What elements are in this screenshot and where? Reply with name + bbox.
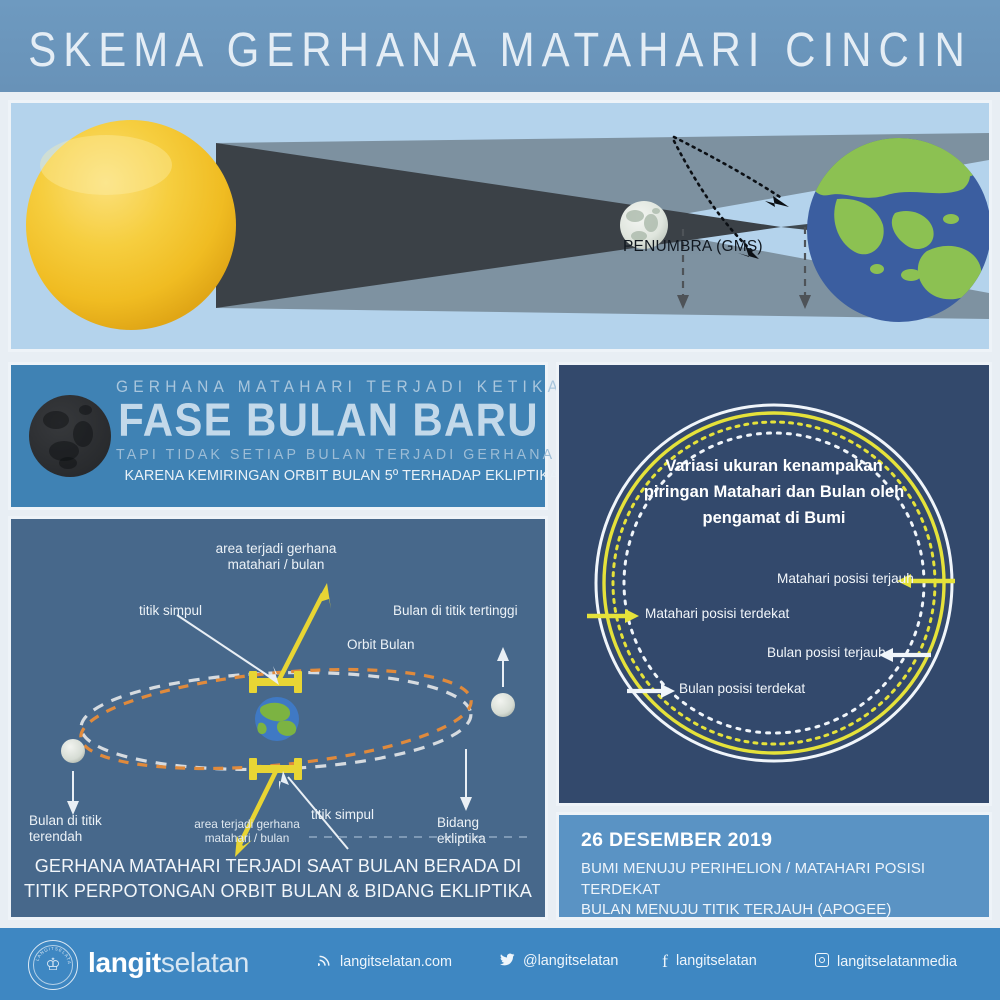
- infographic-poster: SKEMA GERHANA MATAHARI CINCIN: [0, 0, 1000, 1000]
- eclipse-geometry-svg: [11, 103, 989, 349]
- new-moon-phase-panel: GERHANA MATAHARI TERJADI KETIKA FASE BUL…: [8, 362, 548, 510]
- instagram-icon: [815, 953, 829, 970]
- social-instagram-label: langitselatanmedia: [837, 954, 957, 970]
- fase-line-3: TAPI TIDAK SETIAP BULAN TERJADI GERHANA: [116, 447, 541, 464]
- footer-bar: LANGITSELATAN ♔ langitselatan langitsela…: [0, 928, 1000, 1000]
- emblem-figure-icon: ♔: [42, 954, 64, 976]
- social-twitter[interactable]: @langitselatan: [500, 953, 618, 969]
- fase-line-2: FASE BULAN BARU: [116, 396, 541, 444]
- arrow-moon-nearest: [627, 684, 675, 698]
- apparent-size-svg: [559, 365, 989, 803]
- social-instagram[interactable]: langitselatanmedia: [815, 953, 957, 970]
- event-date-panel: 26 DESEMBER 2019 BUMI MENUJU PERIHELION …: [556, 812, 992, 920]
- rss-icon: [318, 953, 332, 970]
- brand-wordmark: langitselatan: [88, 948, 249, 978]
- event-date: 26 DESEMBER 2019: [581, 829, 989, 852]
- moon-lowest-icon: [61, 739, 85, 763]
- label-bulan-tertinggi: Bulan di titik tertinggi: [393, 603, 518, 619]
- arrow-moon-farthest: [879, 648, 931, 662]
- event-detail-2: BULAN MENUJU TITIK TERJAUH (APOGEE): [581, 900, 983, 921]
- label-bulan-terendah: Bulan di titik terendah: [29, 813, 102, 845]
- apparent-size-panel: Variasi ukuran kenampakan piringan Matah…: [556, 362, 992, 806]
- page-title: SKEMA GERHANA MATAHARI CINCIN: [0, 22, 1000, 77]
- label-penumbra: PENUMBRA (GMS): [623, 238, 763, 256]
- langitselatan-emblem-icon: LANGITSELATAN ♔: [28, 940, 78, 990]
- label-matahari-terdekat: Matahari posisi terdekat: [645, 606, 789, 621]
- header-bar: SKEMA GERHANA MATAHARI CINCIN: [0, 0, 1000, 92]
- moon-orbit-panel: area terjadi gerhana matahari / bulan ti…: [8, 516, 548, 920]
- facebook-icon: f: [662, 954, 668, 969]
- social-facebook-label: langitselatan: [676, 953, 757, 969]
- new-moon-icon: [29, 395, 111, 477]
- social-facebook[interactable]: f langitselatan: [662, 953, 757, 969]
- label-bulan-terdekat: Bulan posisi terdekat: [679, 681, 805, 696]
- moon-highest-icon: [491, 693, 515, 717]
- new-moon-text-block: GERHANA MATAHARI TERJADI KETIKA FASE BUL…: [116, 373, 541, 484]
- label-eclipse-area-top: area terjadi gerhana matahari / bulan: [191, 541, 361, 573]
- orbit-panel-footer: GERHANA MATAHARI TERJADI SAAT BULAN BERA…: [14, 853, 543, 903]
- fase-line-4: KARENA KEMIRINGAN ORBIT BULAN 5º TERHADA…: [125, 467, 533, 484]
- event-detail-1: BUMI MENUJU PERIHELION / MATAHARI POSISI…: [581, 859, 983, 900]
- twitter-icon: [500, 953, 515, 969]
- label-titik-simpul-top: titik simpul: [139, 603, 202, 619]
- label-bidang-ekliptika: Bidang ekliptika: [437, 815, 486, 847]
- social-rss[interactable]: langitselatan.com: [318, 953, 452, 970]
- social-rss-label: langitselatan.com: [340, 954, 452, 970]
- apparent-size-title: Variasi ukuran kenampakan piringan Matah…: [609, 453, 939, 531]
- label-orbit-bulan: Orbit Bulan: [347, 637, 415, 653]
- arrow-sun-nearest: [587, 609, 639, 623]
- label-bulan-terjauh: Bulan posisi terjauh: [767, 645, 886, 660]
- label-titik-simpul-bottom: titik simpul: [311, 807, 374, 823]
- label-eclipse-area-bottom: area terjadi gerhana matahari / bulan: [185, 817, 309, 845]
- social-twitter-label: @langitselatan: [523, 953, 618, 969]
- label-matahari-terjauh: Matahari posisi terjauh: [777, 571, 914, 586]
- eclipse-geometry-panel: PENUMBRA (GMS) UMBRA (GMT) ANTUMBRA (GMC…: [8, 100, 992, 352]
